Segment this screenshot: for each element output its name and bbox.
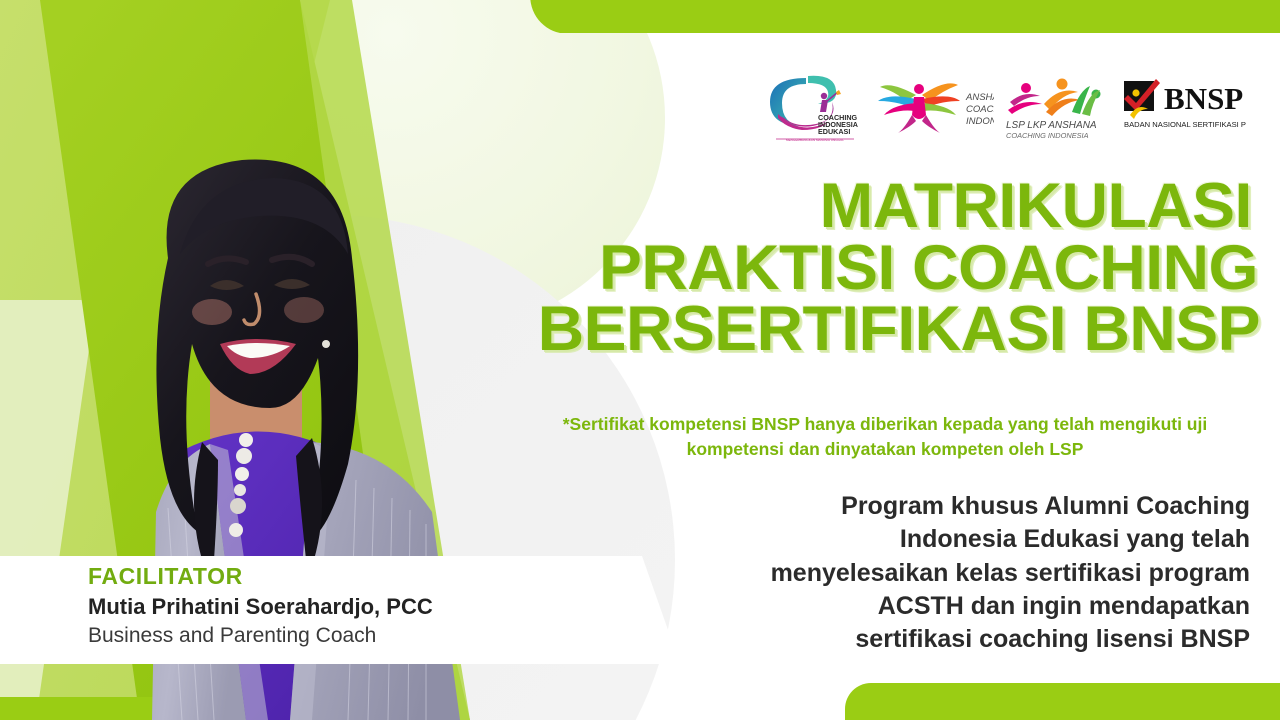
headline-line-2: PRAKTISI COACHING (454, 238, 1260, 300)
anshana-coaching-indonesia-logo[interactable]: ANSHANA COACHING INDONESIA (876, 70, 994, 142)
coaching-indonesia-edukasi-logo[interactable]: COACHING INDONESIA EDUKASI MENGEMBANGKAN… (762, 70, 866, 142)
bottom-right-green-bar (845, 683, 1280, 720)
bnsp-logo[interactable]: BNSP BADAN NASIONAL SERTIFIKASI PROFESI (1118, 70, 1246, 142)
anshana-bird-mark (878, 83, 960, 133)
description-line-2: Indonesia Edukasi yang telah (600, 523, 1250, 556)
facilitator-title: Business and Parenting Coach (88, 622, 608, 649)
headline-line-1: MATRIKULASI (454, 176, 1260, 238)
partner-logo-strip: COACHING INDONESIA EDUKASI MENGEMBANGKAN… (762, 68, 1246, 144)
description-line-3: menyelesaikan kelas sertifikasi program (600, 557, 1250, 590)
svg-text:COACHING: COACHING (966, 104, 994, 115)
earring (322, 340, 330, 348)
certificate-disclaimer: *Sertifikat kompetensi BNSP hanya diberi… (520, 412, 1250, 462)
lsp-lkp-anshana-logo[interactable]: LSP LKP ANSHANA COACHING INDONESIA (1004, 70, 1108, 142)
facilitator-name: Mutia Prihatini Soerahardjo, PCC (88, 593, 608, 622)
headline-line-3: BERSERTIFIKASI BNSP (454, 299, 1260, 361)
facilitator-details: FACILITATOR Mutia Prihatini Soerahardjo,… (88, 562, 608, 650)
facilitator-role-label: FACILITATOR (88, 562, 608, 591)
svg-text:INDONESIA: INDONESIA (966, 116, 994, 127)
lsp-people-mark (1008, 79, 1101, 117)
svg-text:MENGEMBANGKAN MANUSIA UNGGUL: MENGEMBANGKAN MANUSIA UNGGUL (786, 138, 844, 142)
svg-text:LSP LKP ANSHANA: LSP LKP ANSHANA (1006, 120, 1097, 131)
cheek-left (192, 299, 232, 325)
svg-text:BADAN NASIONAL SERTIFIKASI PRO: BADAN NASIONAL SERTIFIKASI PROFESI (1124, 120, 1246, 129)
svg-text:EDUKASI: EDUKASI (818, 127, 850, 136)
cheek-right (284, 297, 324, 323)
poster-canvas: COACHING INDONESIA EDUKASI MENGEMBANGKAN… (0, 0, 1280, 720)
svg-text:ANSHANA: ANSHANA (965, 92, 994, 103)
svg-text:COACHING INDONESIA: COACHING INDONESIA (1006, 131, 1089, 140)
top-right-green-bar-shape (540, 0, 1280, 33)
program-description: Program khusus Alumni Coaching Indonesia… (600, 490, 1250, 656)
description-line-4: ACSTH dan ingin mendapatkan (600, 590, 1250, 623)
disclaimer-line-1: *Sertifikat kompetensi BNSP hanya diberi… (563, 414, 1095, 434)
svg-text:BNSP: BNSP (1164, 81, 1243, 116)
headline-block: MATRIKULASI PRAKTISI COACHING BERSERTIFI… (470, 176, 1260, 361)
description-line-1: Program khusus Alumni Coaching (600, 490, 1250, 523)
description-line-5: sertifikasi coaching lisensi BNSP (600, 623, 1250, 656)
